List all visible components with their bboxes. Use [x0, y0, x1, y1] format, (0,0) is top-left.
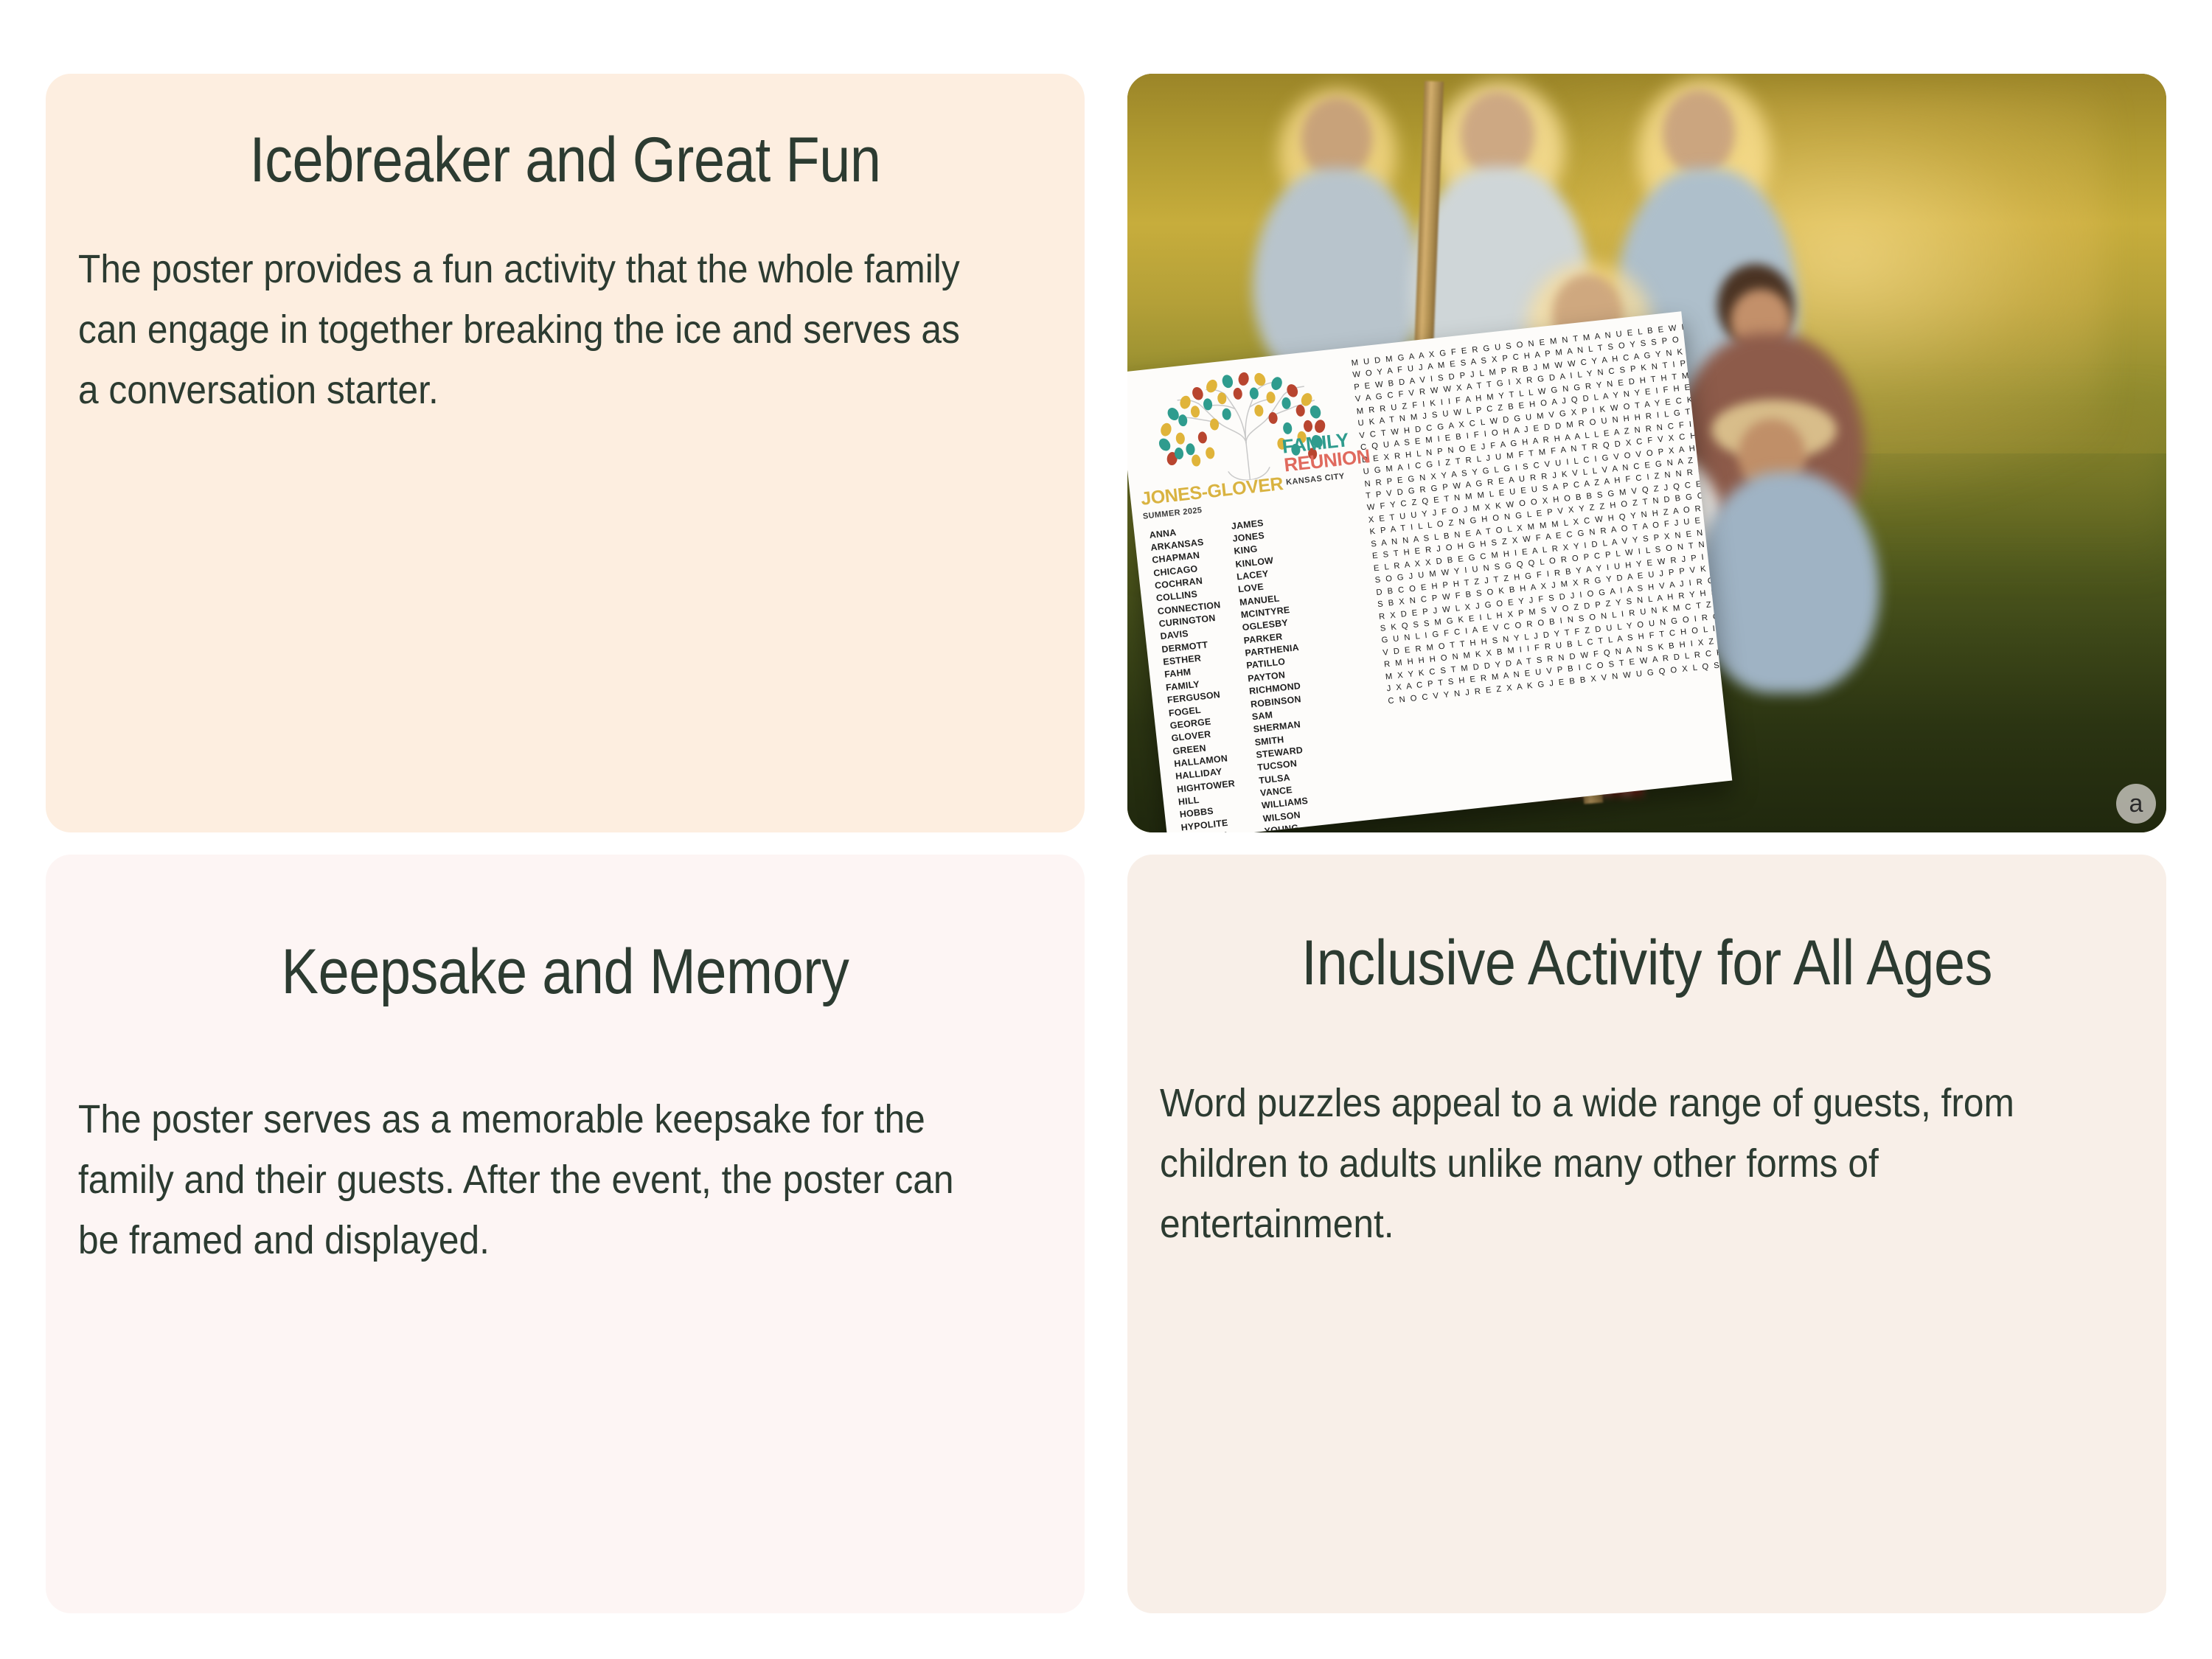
- card-keepsake-body: The poster serves as a memorable keepsak…: [78, 1089, 974, 1270]
- word-list-column-2: JAMES JONES KING KINLOW LACEY LOVE MANUE…: [1231, 515, 1319, 832]
- word-list-column-1: ANNA ARKANSAS CHAPMAN CHICAGO COCHRAN CO…: [1149, 522, 1246, 832]
- card-icebreaker-body: The poster provides a fun activity that …: [78, 239, 974, 420]
- card-inclusive-title: Inclusive Activity for All Ages: [1218, 927, 2075, 1001]
- benefits-grid: Icebreaker and Great Fun The poster prov…: [0, 0, 2212, 1659]
- poster-grid-side: M U D M G A A X G F E R G U S O N E M N …: [1346, 323, 1711, 709]
- head-2: [1461, 91, 1534, 178]
- word-search-poster: JONES-GLOVER SUMMER 2025 ANNA ARKANSAS C…: [1127, 311, 1732, 832]
- watermark-badge-icon: a: [2116, 784, 2156, 824]
- head-3: [1663, 90, 1735, 175]
- card-keepsake-title: Keepsake and Memory: [136, 936, 993, 1009]
- word-search-grid: M U D M G A A X G F E R G U S O N E M N …: [1351, 323, 1711, 708]
- person-hat: [1695, 472, 1879, 693]
- card-keepsake: Keepsake and Memory The poster serves as…: [46, 855, 1085, 1613]
- card-photo: JONES-GLOVER SUMMER 2025 ANNA ARKANSAS C…: [1127, 74, 2166, 832]
- card-icebreaker: Icebreaker and Great Fun The poster prov…: [46, 74, 1085, 832]
- poster-event-title: FAMILY REUNION KANSAS CITY: [1281, 428, 1373, 487]
- card-icebreaker-title: Icebreaker and Great Fun: [136, 124, 993, 198]
- card-inclusive: Inclusive Activity for All Ages Word puz…: [1127, 855, 2166, 1613]
- poster-word-list: ANNA ARKANSAS CHAPMAN CHICAGO COCHRAN CO…: [1144, 506, 1397, 832]
- photo-scene: JONES-GLOVER SUMMER 2025 ANNA ARKANSAS C…: [1127, 74, 2166, 832]
- card-inclusive-body: Word puzzles appeal to a wide range of g…: [1160, 1073, 2056, 1254]
